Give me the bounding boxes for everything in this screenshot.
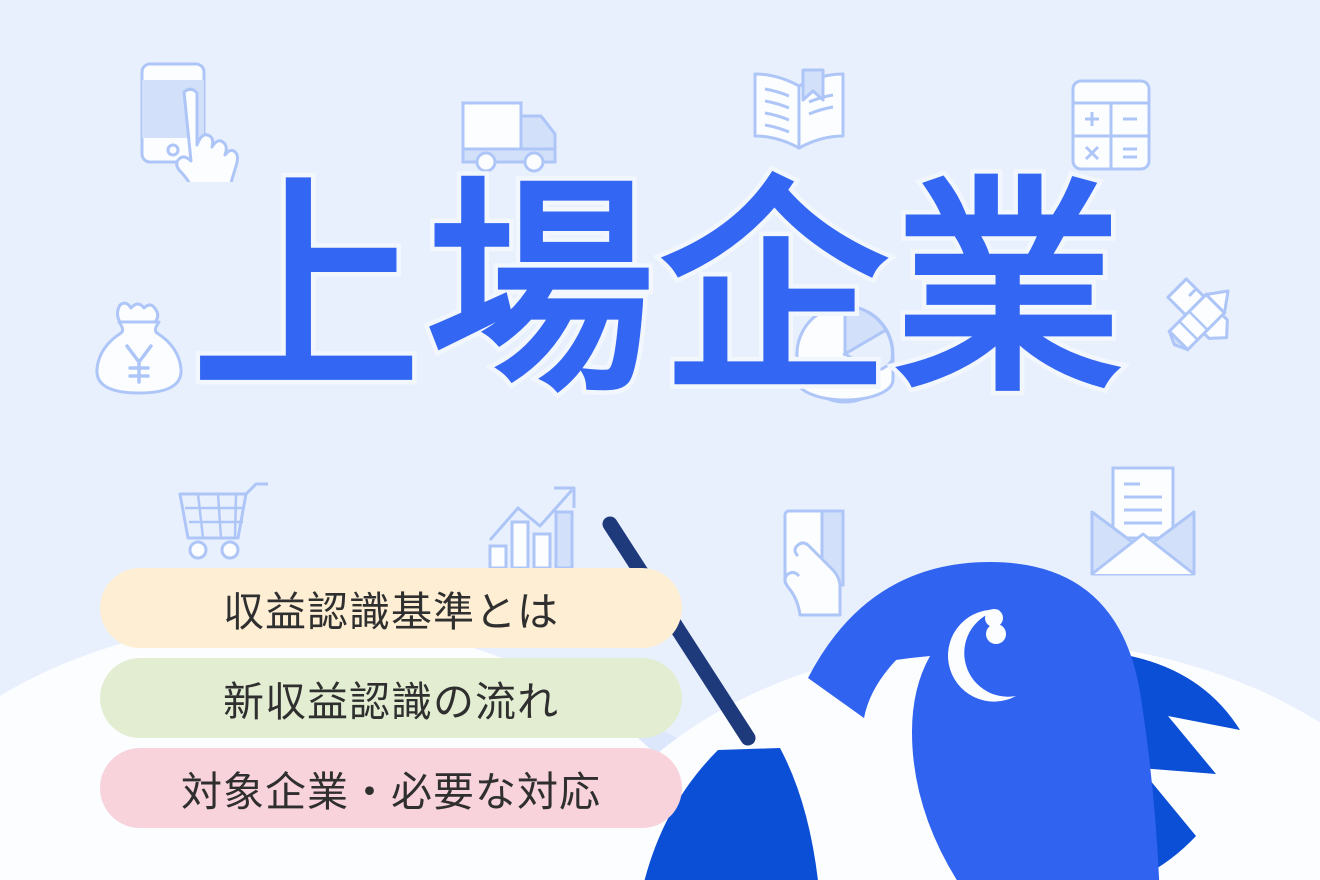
pill-revenue-recognition-standard[interactable]: 収益認識基準とは <box>100 568 682 648</box>
page-title: 上場企業 <box>0 176 1320 404</box>
pill-target-companies-response[interactable]: 対象企業・必要な対応 <box>100 748 682 828</box>
shopping-cart-icon <box>176 480 272 562</box>
bar-chart-growth-icon <box>488 478 580 570</box>
pill-new-revenue-flow[interactable]: 新収益認識の流れ <box>100 658 682 738</box>
pill-label: 対象企業・必要な対応 <box>181 758 601 818</box>
hero-banner: 上場企業 収益認識基準とは 新収益認識の流れ 対象企業・必要な対応 <box>0 0 1320 880</box>
pill-label: 収益認識基準とは <box>223 578 559 638</box>
penguin-mascot <box>600 500 1320 880</box>
pill-label: 新収益認識の流れ <box>223 668 559 728</box>
open-book-icon <box>752 68 846 154</box>
